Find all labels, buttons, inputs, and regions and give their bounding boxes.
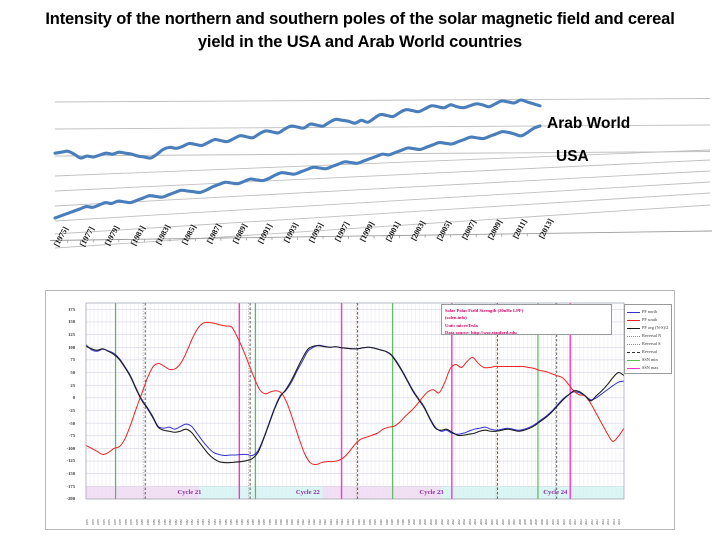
legend-label: PF south bbox=[642, 318, 657, 323]
legend-item[interactable]: SSN min bbox=[627, 357, 669, 365]
slide-root: Intensity of the northern and southern p… bbox=[0, 0, 720, 540]
legend-item[interactable]: Reversal bbox=[627, 348, 669, 356]
legend-label: PF avg (N-S)/2 bbox=[642, 326, 668, 331]
solar-y-tick: -75 bbox=[58, 433, 75, 438]
solar-y-tick: 0 bbox=[58, 395, 75, 400]
series-label-arab-world: Arab World bbox=[547, 115, 630, 133]
info-line-1: (solen.info) bbox=[445, 314, 608, 321]
legend-item[interactable]: PF avg (N-S)/2 bbox=[627, 324, 669, 332]
legend-label: SSN max bbox=[642, 366, 658, 371]
solar-polar-field-chart: 1751501251007550250-25-50-75-100-125-150… bbox=[45, 290, 675, 530]
legend-item[interactable]: SSN max bbox=[627, 365, 669, 373]
chart-info-box: Solar Polar Field Strength (20nHz LPF) (… bbox=[441, 304, 612, 335]
cycle-label-22: Cycle 22 bbox=[296, 489, 320, 496]
axis-line bbox=[50, 231, 712, 243]
solar-y-tick: -150 bbox=[58, 471, 75, 476]
cycle-label-23: Cycle 23 bbox=[420, 489, 444, 496]
legend-label: Reversal S bbox=[642, 342, 661, 347]
legend-label: PF north bbox=[642, 310, 657, 315]
line-usa bbox=[55, 126, 540, 218]
series-label-usa: USA bbox=[556, 148, 589, 166]
legend-item[interactable]: Reversal N bbox=[627, 332, 669, 340]
solar-legend: PF northPF southPF avg (N-S)/2Reversal N… bbox=[624, 304, 672, 374]
info-line-2: Unit: microTesla bbox=[445, 322, 608, 329]
legend-swatch-line bbox=[627, 336, 640, 337]
solar-y-tick: 175 bbox=[58, 307, 75, 312]
solar-y-tick: -25 bbox=[58, 408, 75, 413]
cycle-label-24: Cycle 24 bbox=[543, 489, 567, 496]
gridline-lower-4 bbox=[55, 193, 710, 234]
solar-y-tick: -175 bbox=[58, 484, 75, 489]
legend-swatch-line bbox=[627, 320, 640, 321]
gridline-lower-3 bbox=[55, 182, 710, 221]
gridline-upper-0 bbox=[55, 99, 710, 103]
info-line-0: Solar Polar Field Strength (20nHz LPF) bbox=[445, 307, 608, 314]
legend-swatch-line bbox=[627, 328, 640, 329]
solar-y-tick: 100 bbox=[58, 345, 75, 350]
solar-x-axis-labels: 1976197619761976197619781978197819781978… bbox=[86, 499, 624, 525]
legend-swatch-line bbox=[627, 360, 640, 361]
gridline-lower-1 bbox=[55, 160, 710, 191]
legend-item[interactable]: PF north bbox=[627, 308, 669, 316]
legend-label: SSN min bbox=[642, 358, 658, 363]
gridline-lower-2 bbox=[55, 171, 710, 206]
legend-label: Reversal N bbox=[642, 334, 661, 339]
legend-swatch-line bbox=[627, 312, 640, 313]
series-lines bbox=[55, 100, 540, 218]
solar-y-tick: 125 bbox=[58, 332, 75, 337]
solar-y-tick: 50 bbox=[58, 370, 75, 375]
legend-swatch-line bbox=[627, 368, 640, 369]
legend-swatch-line bbox=[627, 352, 640, 353]
legend-label: Reversal bbox=[642, 350, 657, 355]
solar-y-tick: -125 bbox=[58, 458, 75, 463]
page-title: Intensity of the northern and southern p… bbox=[40, 8, 680, 54]
legend-item[interactable]: PF south bbox=[627, 316, 669, 324]
solar-y-tick: -50 bbox=[58, 421, 75, 426]
solar-y-tick: -100 bbox=[58, 446, 75, 451]
solar-y-tick: 25 bbox=[58, 383, 75, 388]
legend-swatch-line bbox=[627, 344, 640, 345]
solar-y-tick: 75 bbox=[58, 357, 75, 362]
line-arab-world bbox=[55, 100, 540, 158]
info-line-3: Data source: http://wso.stanford.edu bbox=[445, 329, 608, 336]
legend-item[interactable]: Reversal S bbox=[627, 340, 669, 348]
cycle-band-4 bbox=[565, 486, 624, 499]
solar-y-tick: -200 bbox=[58, 496, 75, 501]
x-axis-line bbox=[50, 231, 712, 241]
cycle-label-21: Cycle 21 bbox=[177, 489, 201, 496]
solar-y-tick: 150 bbox=[58, 319, 75, 324]
